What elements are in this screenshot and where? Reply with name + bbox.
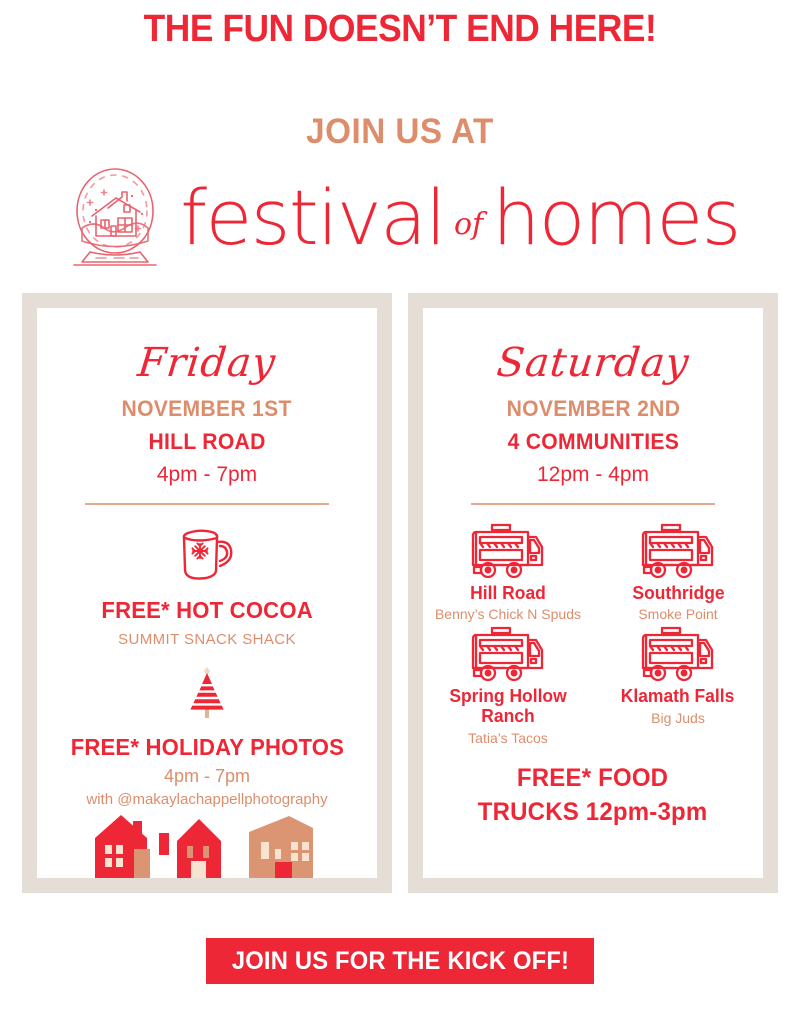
saturday-divider xyxy=(471,503,716,505)
friday-time: 4pm - 7pm xyxy=(157,463,257,487)
flyer-page: THE FUN DOESN’T END HERE! JOIN US AT xyxy=(0,0,800,1022)
truck-cell-southridge: Southridge Smoke Point xyxy=(627,523,730,623)
kick-off-cta-label: JOIN US FOR THE KICK OFF! xyxy=(231,947,568,976)
saturday-place: 4 COMMUNITIES xyxy=(507,429,679,455)
cocoa-vendor: SUMMIT SNACK SHACK xyxy=(118,631,296,648)
card-friday-inner: Friday NOVEMBER 1ST HILL ROAD 4pm - 7pm xyxy=(37,308,377,878)
photos-title: FREE* HOLIDAY PHOTOS xyxy=(70,734,343,761)
saturday-time: 12pm - 4pm xyxy=(537,463,649,487)
page-headline: THE FUN DOESN’T END HERE! xyxy=(28,8,772,51)
logotype-word-homes: homes xyxy=(492,182,740,254)
food-truck-icon xyxy=(640,523,716,581)
truck-vendor: Big Juds xyxy=(651,710,705,726)
truck-vendor: Benny’s Chick N Spuds xyxy=(435,606,581,622)
snowglobe-house-icon xyxy=(60,166,170,271)
free-food-trucks-note: FREE* FOOD TRUCKS 12pm-3pm xyxy=(478,762,708,830)
truck-vendor: Smoke Point xyxy=(638,606,717,622)
card-friday: Friday NOVEMBER 1ST HILL ROAD 4pm - 7pm xyxy=(22,293,392,893)
brand-logo: festival of homes xyxy=(0,163,800,273)
truck-name: Klamath Falls xyxy=(621,687,735,707)
truck-name: Spring Hollow Ranch xyxy=(429,687,586,727)
event-cards: Friday NOVEMBER 1ST HILL ROAD 4pm - 7pm xyxy=(22,293,778,893)
food-truck-icon xyxy=(640,626,716,684)
logotype-word-festival: festival xyxy=(180,182,445,254)
logotype: festival of homes xyxy=(180,182,739,254)
cocoa-title: FREE* HOT COCOA xyxy=(101,597,312,624)
free-food-line-1: FREE* FOOD xyxy=(478,762,708,796)
food-truck-icon xyxy=(470,626,546,684)
card-saturday: Saturday NOVEMBER 2ND 4 COMMUNITIES 12pm… xyxy=(408,293,778,893)
friday-place: HILL ROAD xyxy=(148,429,265,455)
friday-date: NOVEMBER 1ST xyxy=(122,396,292,422)
truck-name: Southridge xyxy=(632,584,724,604)
photos-time: 4pm - 7pm xyxy=(164,766,250,787)
saturday-date: NOVEMBER 2ND xyxy=(506,396,680,422)
three-houses-illustration xyxy=(37,804,377,878)
kick-off-cta-button[interactable]: JOIN US FOR THE KICK OFF! xyxy=(206,938,594,984)
truck-cell-hill-road: Hill Road Benny’s Chick N Spuds xyxy=(431,523,585,623)
truck-vendor: Tatia’s Tacos xyxy=(468,730,548,746)
food-truck-icon xyxy=(470,523,546,581)
cocoa-mug-icon xyxy=(176,525,238,583)
truck-cell-klamath-falls: Klamath Falls Big Juds xyxy=(615,626,740,746)
christmas-tree-icon xyxy=(184,666,230,720)
join-us-eyebrow: JOIN US AT xyxy=(20,112,780,152)
truck-name: Hill Road xyxy=(470,584,546,604)
saturday-day-title: Saturday xyxy=(494,340,691,386)
food-truck-grid: Hill Road Benny’s Chick N Spuds xyxy=(423,523,763,746)
logotype-connector-of: of xyxy=(447,207,490,242)
friday-divider xyxy=(85,503,330,505)
friday-day-title: Friday xyxy=(136,340,279,386)
free-food-line-2: TRUCKS 12pm-3pm xyxy=(478,796,708,830)
card-saturday-inner: Saturday NOVEMBER 2ND 4 COMMUNITIES 12pm… xyxy=(423,308,763,878)
truck-cell-spring-hollow-ranch: Spring Hollow Ranch Tatia’s Tacos xyxy=(423,626,593,746)
